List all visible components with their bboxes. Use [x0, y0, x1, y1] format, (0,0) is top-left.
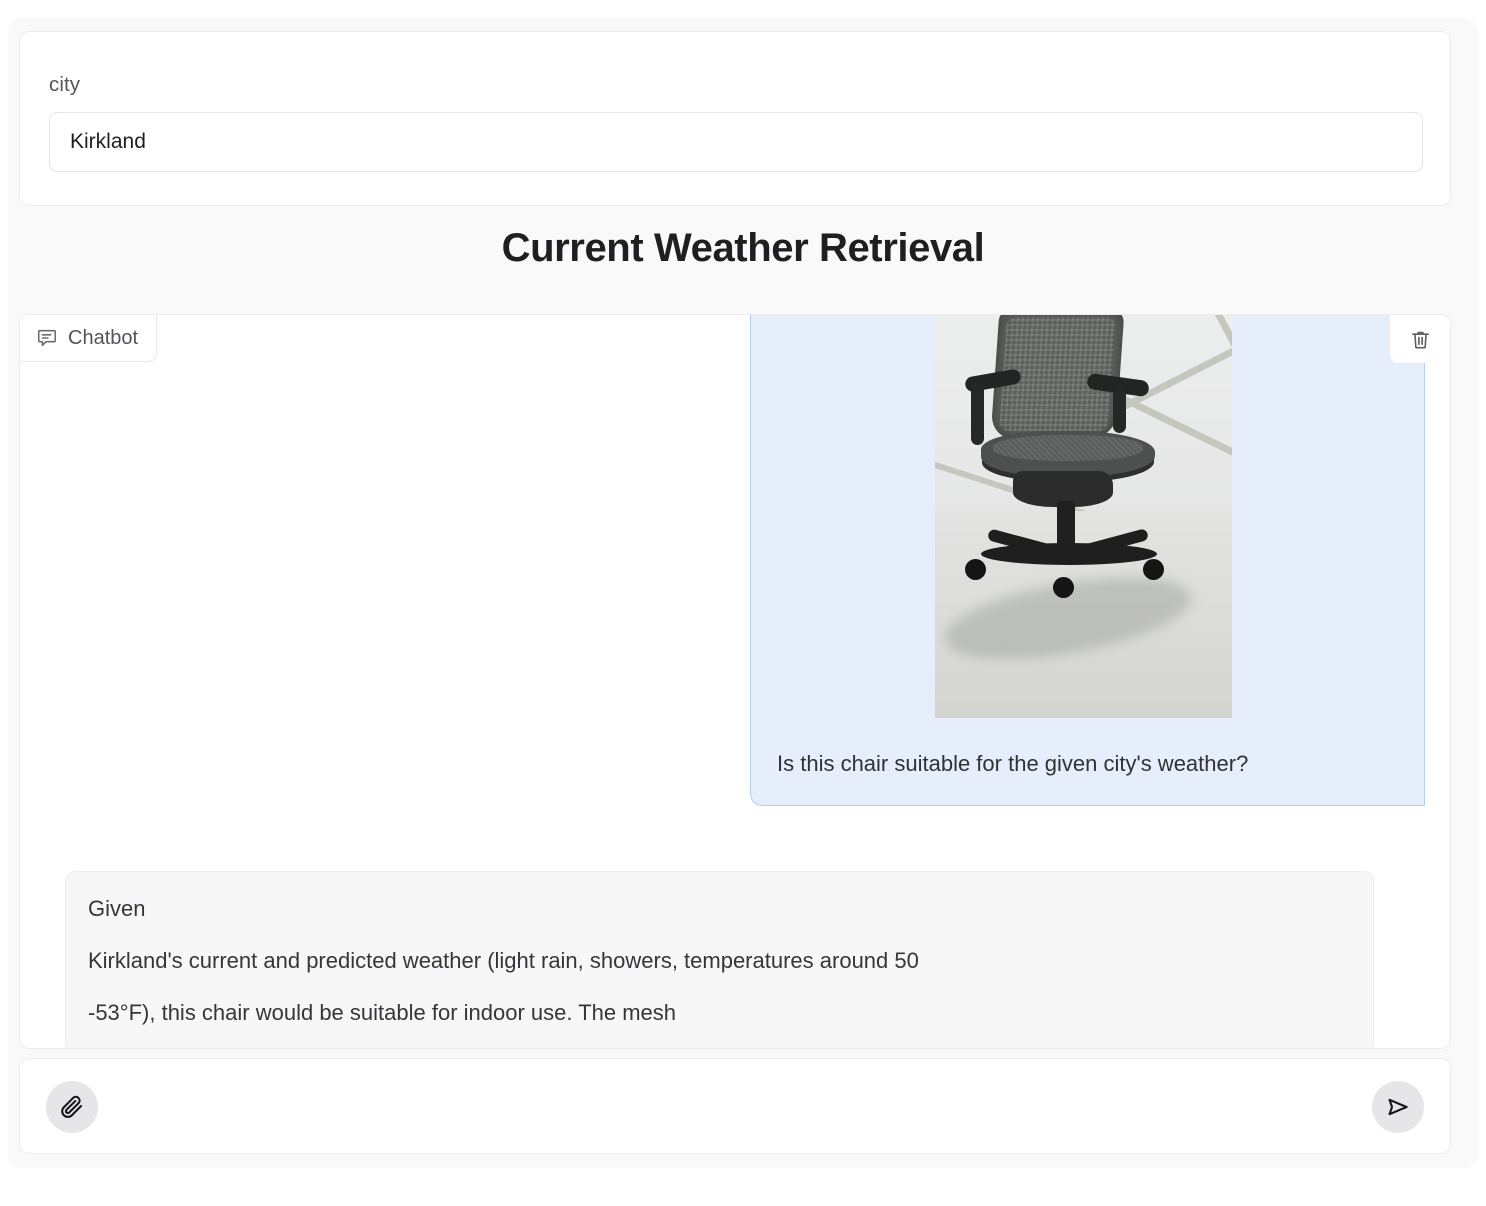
send-icon [1385, 1094, 1411, 1120]
chatbot-panel: Chatbot [19, 314, 1451, 1049]
message-input[interactable] [112, 1077, 1358, 1139]
message-input-bar [19, 1058, 1451, 1154]
office-chair-photo [935, 315, 1232, 718]
bot-message-line-3: -53°F), this chair would be suitable for… [88, 1002, 1351, 1024]
trash-icon [1409, 328, 1432, 351]
bot-message-line-1: Given [88, 898, 1351, 920]
city-form-card: city [19, 31, 1451, 206]
bot-message-bubble[interactable]: Given Kirkland's current and predicted w… [65, 871, 1374, 1049]
bot-message-line-2: Kirkland's current and predicted weather… [88, 950, 1351, 972]
send-button[interactable] [1372, 1081, 1424, 1133]
chatbot-label-text: Chatbot [68, 327, 138, 350]
clear-chat-button[interactable] [1390, 315, 1450, 363]
city-field-label: city [49, 73, 80, 97]
attach-file-button[interactable] [46, 1081, 98, 1133]
user-message-text: Is this chair suitable for the given cit… [777, 749, 1410, 779]
chat-bubble-icon [36, 327, 58, 349]
app-container: city Current Weather Retrieval Chatbot [8, 18, 1478, 1168]
chatbot-component-label: Chatbot [20, 315, 157, 362]
page-title: Current Weather Retrieval [8, 226, 1478, 271]
user-message-image [935, 315, 1232, 718]
paperclip-icon [59, 1094, 85, 1120]
user-message-bubble[interactable]: Is this chair suitable for the given cit… [750, 315, 1425, 806]
city-input[interactable] [49, 112, 1423, 172]
